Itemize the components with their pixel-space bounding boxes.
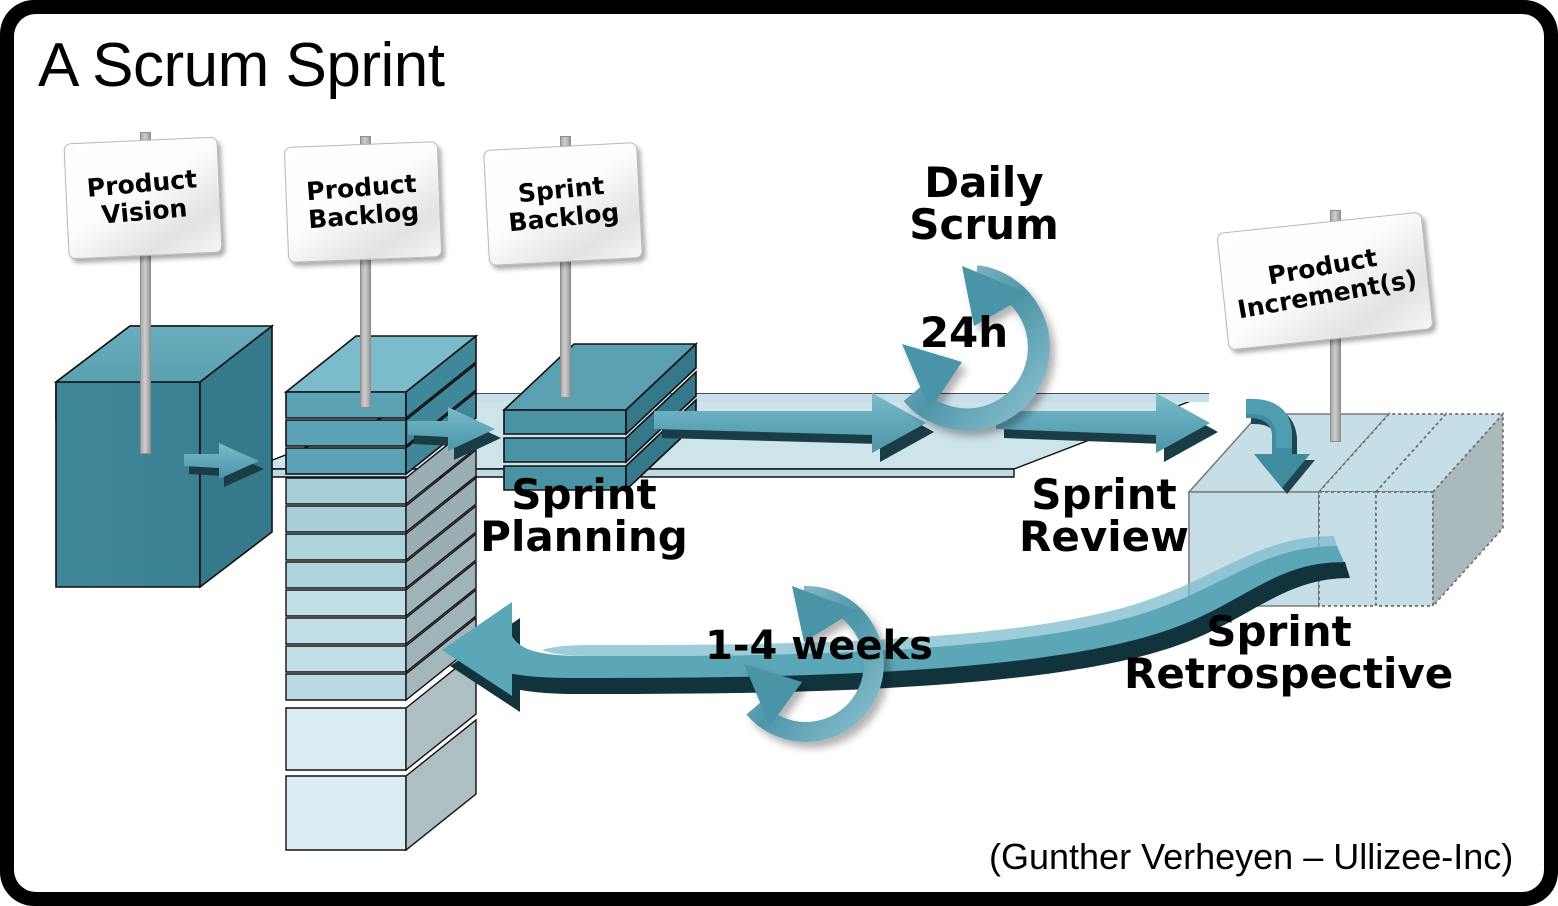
signpost-product-vision: Product Vision	[66, 140, 226, 256]
label-sprint-retrospective: Sprint Retrospective	[1124, 611, 1434, 695]
diagram-canvas: A Scrum Sprint	[14, 14, 1544, 892]
signpost-board: Product Vision	[63, 137, 222, 260]
diagram-frame: A Scrum Sprint	[0, 0, 1558, 906]
label-daily-scrum: Daily Scrum	[874, 162, 1094, 246]
signpost-product-increments: Product Increment(s)	[1222, 222, 1434, 340]
signpost-board: Product Backlog	[284, 141, 442, 263]
product-backlog-stack	[286, 336, 476, 850]
label-sprint-duration: 1-4 weeks	[694, 626, 944, 666]
signpost-label: Sprint Backlog	[505, 171, 621, 238]
signpost-label: Product Vision	[86, 165, 201, 230]
label-sprint-review: Sprint Review	[1014, 474, 1194, 558]
signpost-label: Product Backlog	[305, 170, 420, 234]
scrum-sprint-illustration	[14, 14, 1544, 892]
signpost-board: Sprint Backlog	[483, 142, 643, 266]
signpost-sprint-backlog: Sprint Backlog	[486, 146, 646, 262]
signpost-product-backlog: Product Backlog	[286, 144, 446, 260]
signpost-label: Product Increment(s)	[1231, 238, 1420, 325]
label-daily-scrum-duration: 24h	[904, 312, 1024, 354]
label-sprint-planning: Sprint Planning	[469, 474, 699, 558]
credit-line: (Gunther Verheyen – Ullizee-Inc)	[989, 836, 1513, 878]
signpost-board: Product Increment(s)	[1216, 212, 1433, 351]
